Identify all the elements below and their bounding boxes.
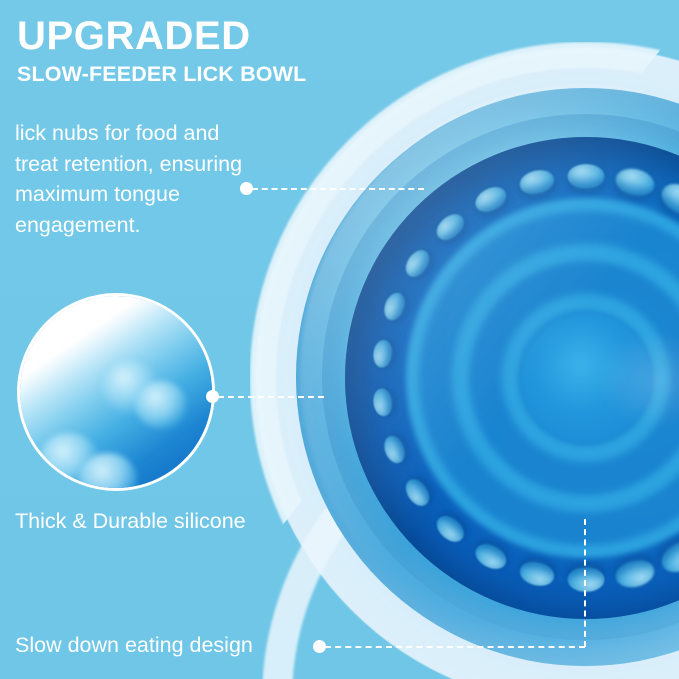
lick-nub	[471, 540, 510, 574]
leader-dot-feature-1	[240, 182, 253, 195]
leader-dot-feature-2	[206, 390, 219, 403]
lick-nub	[613, 557, 657, 591]
feature-text-slow-down-eating-design: Slow down eating design	[15, 632, 253, 660]
lick-nub	[471, 182, 510, 216]
lick-nub	[372, 339, 393, 369]
feature-text-lick-nubs: lick nubs for food and treat retention, …	[15, 118, 315, 240]
lick-nub	[432, 511, 468, 546]
lick-nub	[613, 165, 657, 199]
magnified-lick-nub	[79, 453, 137, 491]
page-subtitle: SLOW-FEEDER LICK BOWL	[17, 63, 447, 86]
magnified-silicone-surface	[17, 293, 215, 491]
lick-nub	[517, 559, 556, 589]
page-title: UPGRADED	[17, 16, 447, 57]
lick-nub	[401, 475, 433, 510]
lick-nub	[432, 209, 468, 244]
lick-nub	[568, 164, 605, 188]
lick-nub	[568, 568, 605, 592]
leader-line-feature-2	[218, 396, 324, 398]
leader-line-feature-1	[252, 188, 424, 190]
headline-block: UPGRADED SLOW-FEEDER LICK BOWL	[17, 16, 447, 85]
magnified-sheen	[17, 293, 215, 354]
lick-nub	[381, 290, 408, 323]
leader-dot-feature-3	[313, 640, 326, 653]
magnified-silicone-closeup	[17, 293, 215, 491]
product-infographic: UPGRADED SLOW-FEEDER LICK BOWL lick nubs…	[0, 0, 679, 679]
leader-line-feature-3-vertical	[584, 519, 586, 647]
feature-text-thick-durable-silicone: Thick & Durable silicone	[15, 508, 246, 536]
lick-nub	[401, 246, 433, 281]
lick-nub	[372, 387, 393, 417]
lick-nub	[517, 167, 556, 197]
lick-nub	[381, 433, 408, 466]
leader-line-feature-3-horizontal	[325, 646, 585, 648]
magnified-lick-nub	[135, 381, 187, 429]
